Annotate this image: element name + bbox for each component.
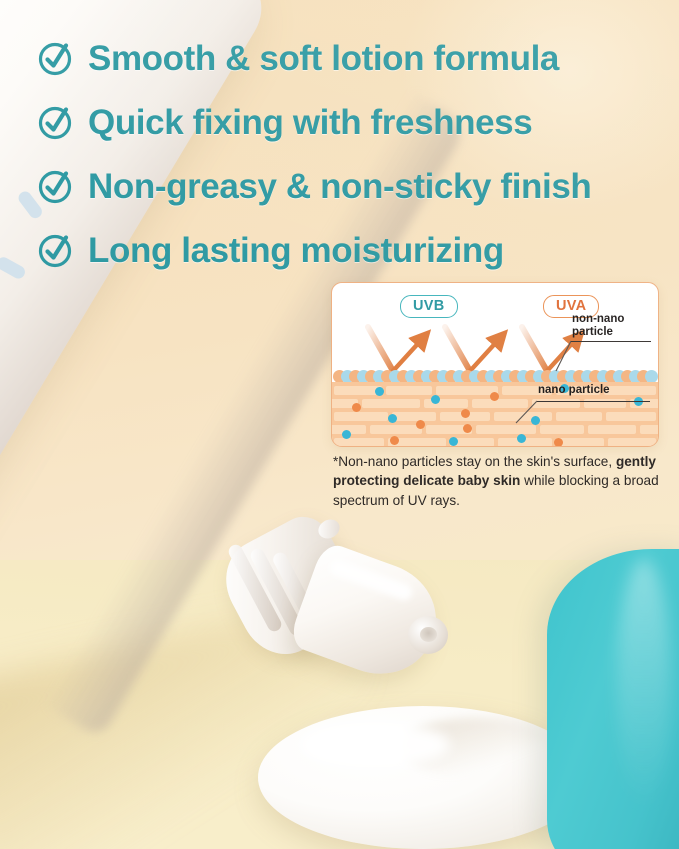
feature-item: Long lasting moisturizing bbox=[38, 218, 668, 282]
caption-after-bold: while bbox=[520, 473, 555, 488]
check-circle-icon bbox=[38, 40, 74, 76]
label-non-nano-particle: non-nano particle bbox=[572, 313, 624, 339]
lotion-blob-highlight bbox=[300, 722, 450, 768]
uv-diagram-panel: UVB UVA bbox=[331, 282, 659, 447]
check-circle-icon bbox=[38, 168, 74, 204]
feature-label: Long lasting moisturizing bbox=[88, 233, 504, 268]
diagram-caption: *Non-nano particles stay on the skin's s… bbox=[333, 452, 663, 510]
feature-item: Non-greasy & non-sticky finish bbox=[38, 154, 668, 218]
label-underline bbox=[571, 341, 651, 342]
feature-item: Quick fixing with freshness bbox=[38, 90, 668, 154]
sun-icon bbox=[0, 153, 18, 301]
bottle-cap bbox=[232, 520, 428, 696]
feature-label: Smooth & soft lotion formula bbox=[88, 41, 559, 76]
check-circle-icon bbox=[38, 232, 74, 268]
feature-item: Smooth & soft lotion formula bbox=[38, 26, 668, 90]
label-nano-particle: nano particle bbox=[538, 384, 610, 397]
check-circle-icon bbox=[38, 104, 74, 140]
nozzle-opening bbox=[420, 627, 437, 642]
product-feature-image: SUN WATER LOTION Smooth & sof bbox=[0, 0, 679, 849]
caption-line-1: *Non-nano particles stay on the skin's s… bbox=[333, 454, 612, 469]
sun-ray bbox=[0, 255, 27, 281]
feature-label: Quick fixing with freshness bbox=[88, 105, 532, 140]
label-leader-lines bbox=[332, 283, 658, 446]
teal-object-highlight bbox=[617, 559, 671, 809]
label-underline bbox=[537, 401, 650, 402]
feature-list: Smooth & soft lotion formula Quick fixin… bbox=[38, 26, 668, 282]
feature-label: Non-greasy & non-sticky finish bbox=[88, 169, 591, 204]
